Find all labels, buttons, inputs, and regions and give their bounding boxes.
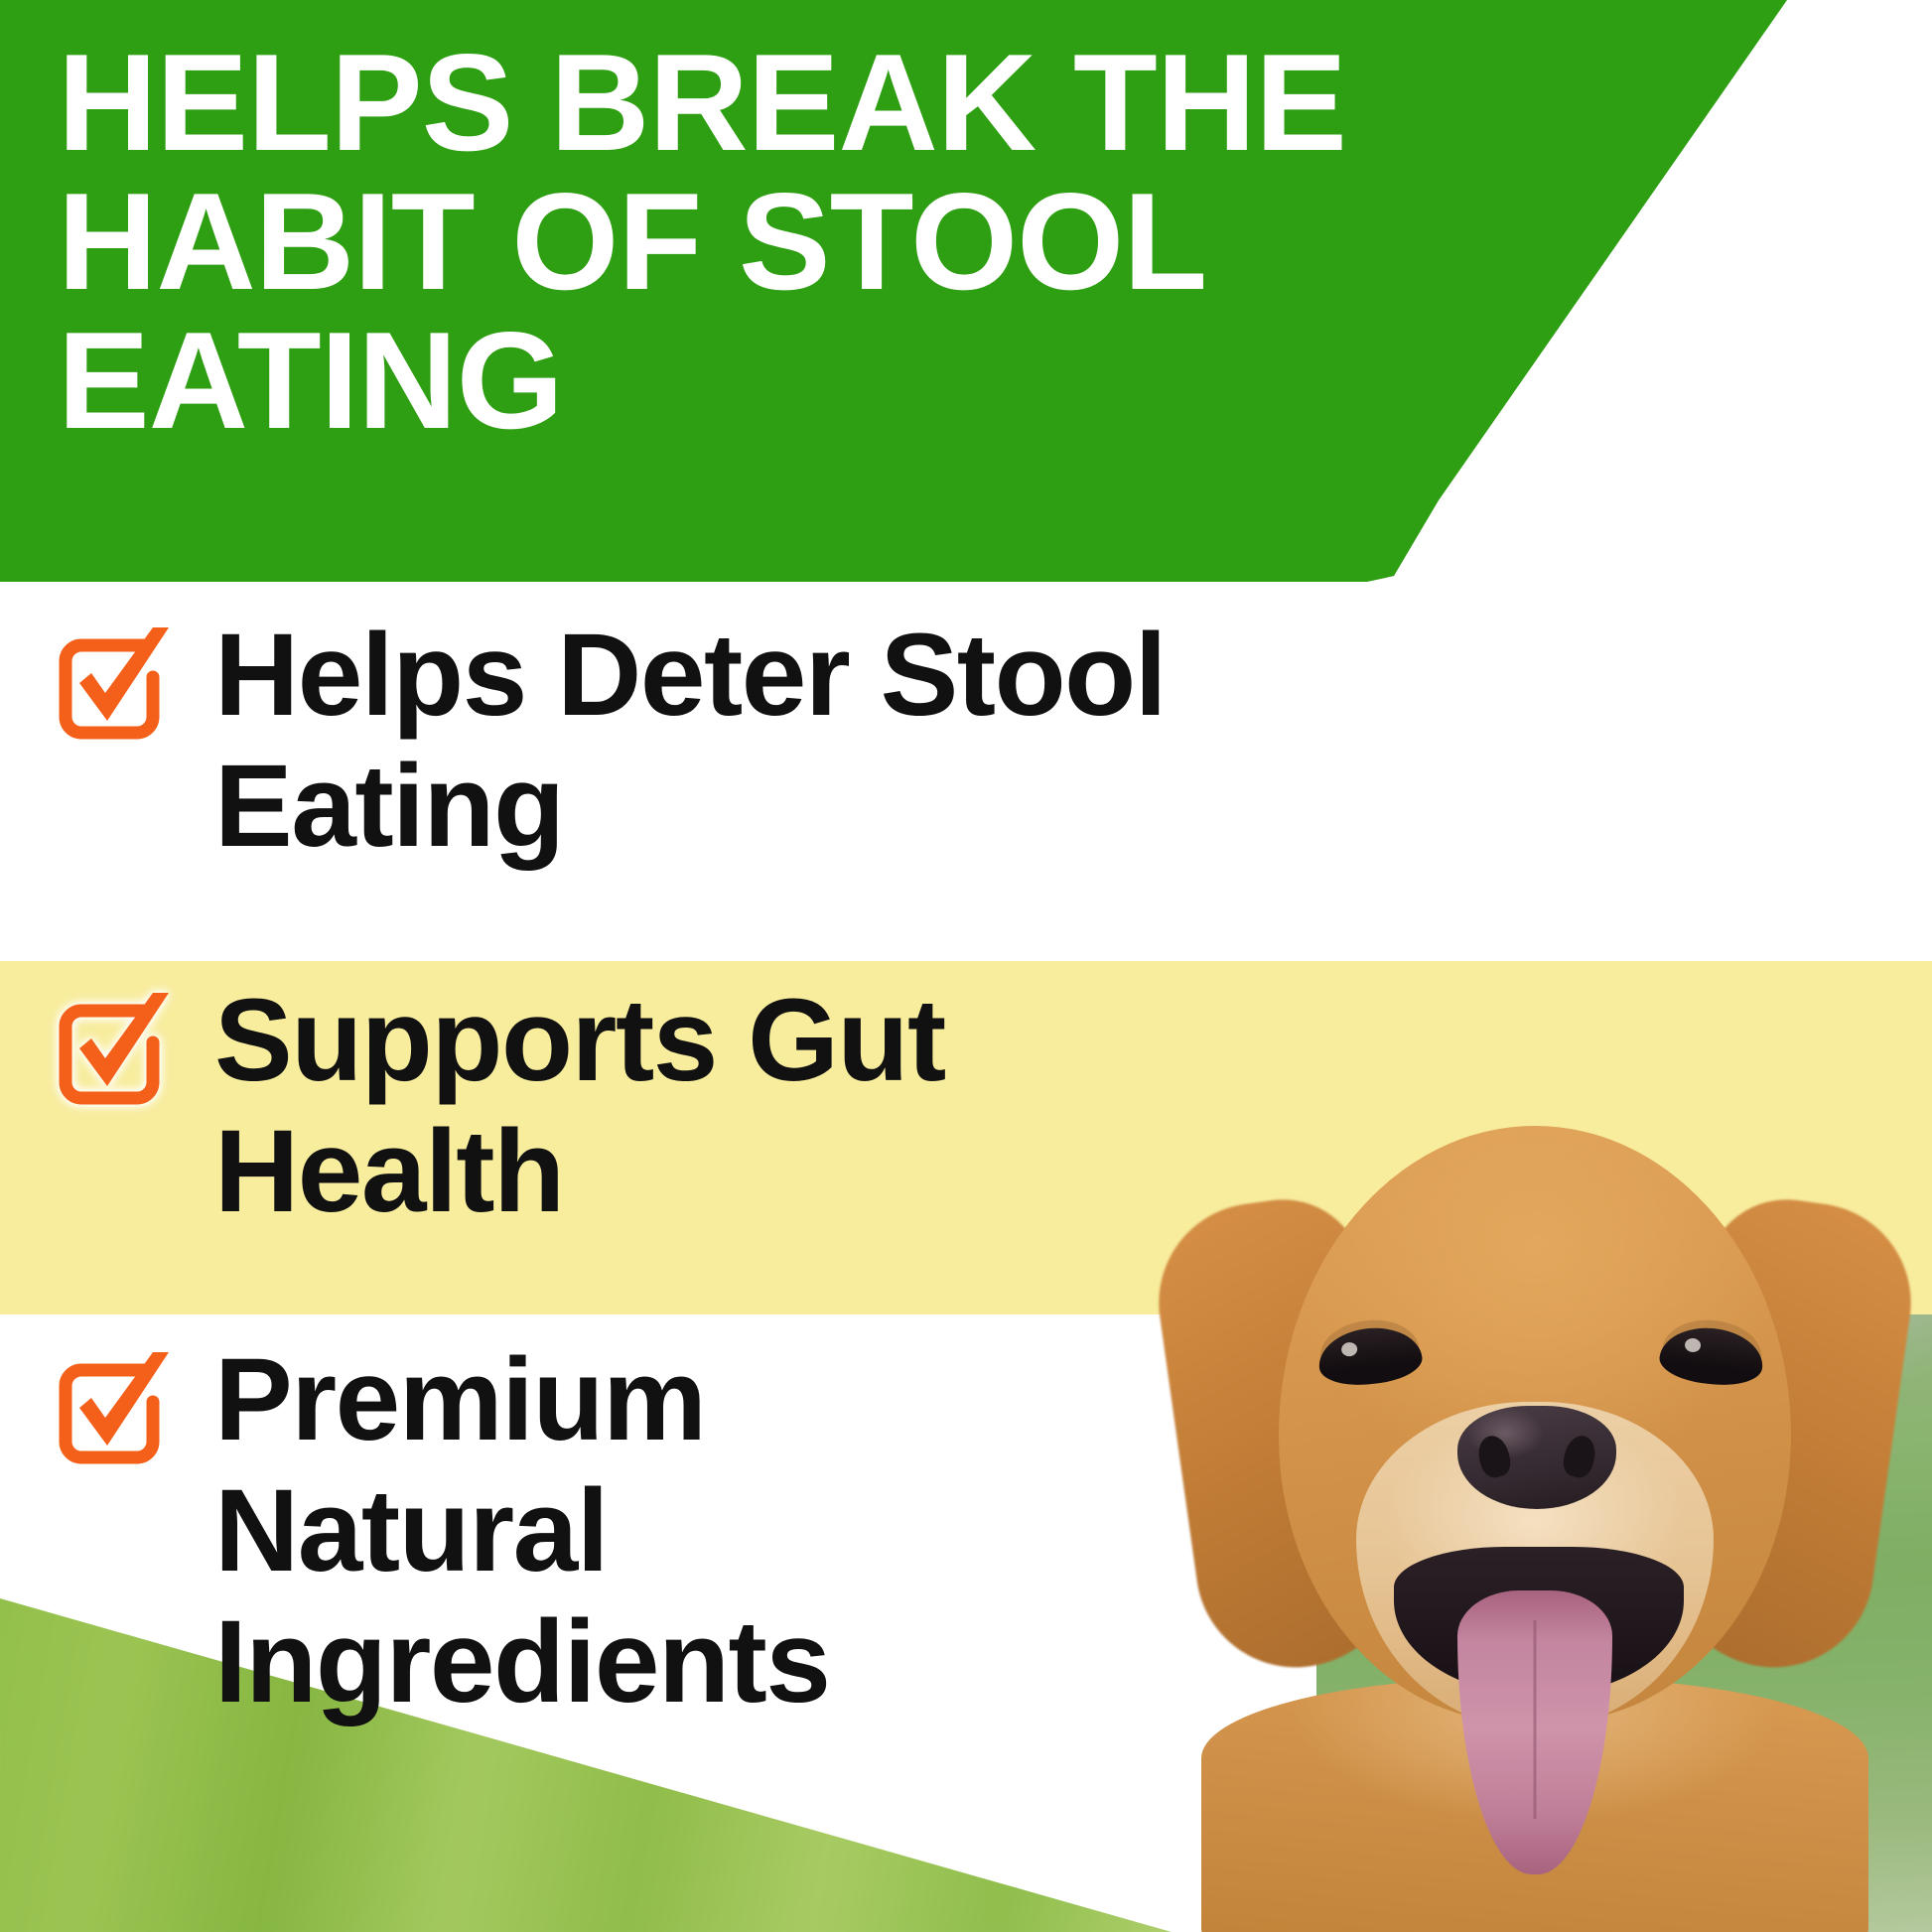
headline-banner: HELPS BREAK THE HABIT OF STOOL EATING — [0, 0, 1787, 582]
checkbox-checked-icon — [46, 616, 177, 747]
benefit-label: Supports Gut Health — [214, 975, 945, 1237]
benefit-item-helps-deter-stool-eating[interactable]: Helps Deter Stool Eating — [46, 616, 1455, 872]
page-title: HELPS BREAK THE HABIT OF STOOL EATING — [58, 34, 1467, 451]
checkbox-checked-icon — [46, 1340, 177, 1471]
benefit-item-premium-natural-ingredients[interactable]: Premium Natural Ingredients — [46, 1340, 1217, 1727]
benefit-label: Premium Natural Ingredients — [214, 1334, 829, 1727]
product-feature-card: HELPS BREAK THE HABIT OF STOOL EATING He… — [0, 0, 1932, 1932]
benefit-label: Helps Deter Stool Eating — [214, 610, 1166, 872]
benefit-item-supports-gut-health[interactable]: Supports Gut Health — [46, 981, 1436, 1237]
checkbox-checked-icon — [46, 981, 177, 1112]
